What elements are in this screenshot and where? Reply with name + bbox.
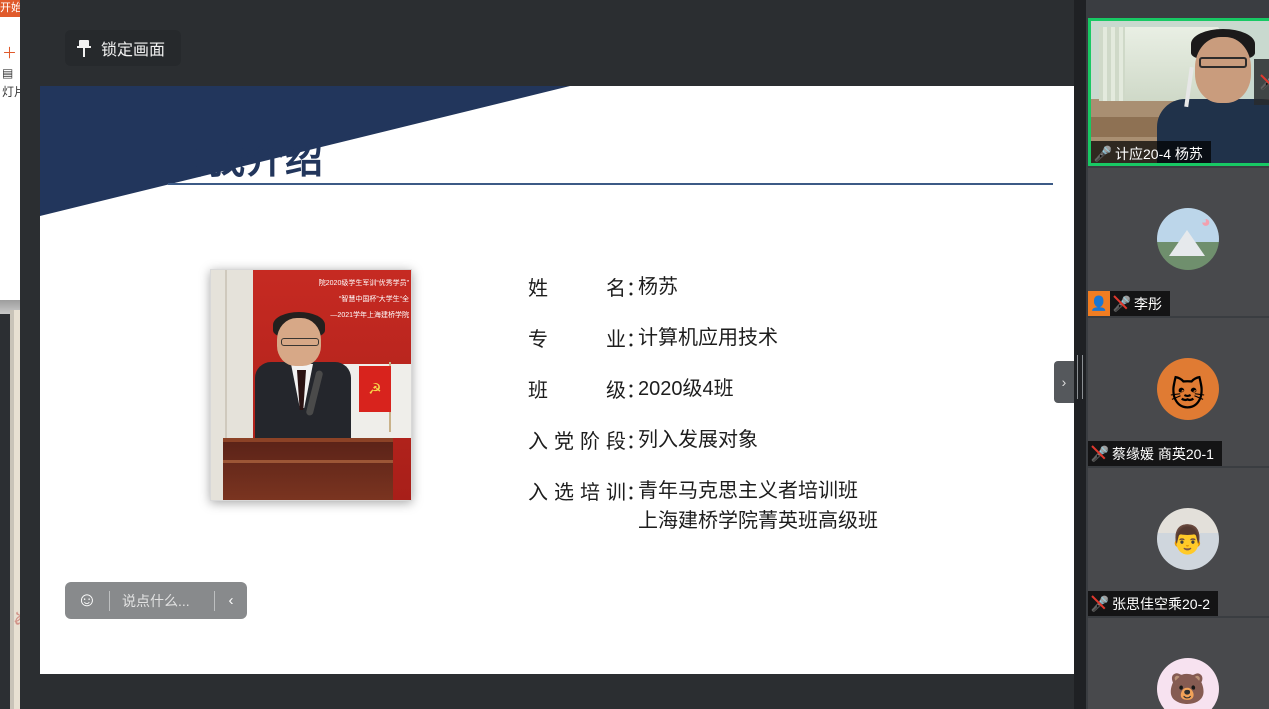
participant-tile[interactable]: 👤 🎤 李彤 [1088, 168, 1269, 316]
info-value: 青年马克思主义者培训班 上海建桥学院菁英班高级班 [638, 476, 878, 536]
info-row-party-stage: 入党阶段 ： 列入发展对象 [528, 425, 1048, 455]
info-label: 专业 [528, 323, 626, 353]
mic-muted-icon: 🎤 [1088, 441, 1112, 466]
mic-muted-icon: 🎤 [1110, 291, 1134, 316]
ppt-slide-icon[interactable]: ▤ [2, 66, 13, 80]
info-value: 计算机应用技术 [638, 323, 778, 353]
meeting-window: 锁定画面 自我介绍 院2020级学生军训“优秀学员” “智慧中国杯”大学生“全 … [20, 0, 1269, 709]
participant-tile[interactable]: 👨 🎤 张思佳空乘20-2 [1088, 468, 1269, 616]
info-colon: ： [626, 425, 638, 455]
participant-name-tag: 🎤 蔡缘媛 商英20-1 [1088, 441, 1222, 466]
info-colon: ： [626, 374, 638, 404]
participant-tile[interactable]: 🐱 🎤 蔡缘媛 商英20-1 [1088, 318, 1269, 466]
pin-icon [77, 39, 91, 57]
ppt-new-slide-icon[interactable]: ＋ [2, 45, 17, 62]
info-colon: ： [626, 323, 638, 353]
avatar: 🐻 [1157, 658, 1219, 709]
lock-screen-button[interactable]: 锁定画面 [65, 30, 181, 66]
emoji-icon[interactable]: ☺ [65, 582, 109, 619]
avatar: 🐱 [1157, 358, 1219, 420]
screen-root: 开始 ＋ ▤ 灯片 ❧ 锁定画面 [0, 0, 1269, 709]
mic-muted-icon: 🎤 [1088, 591, 1112, 616]
participant-tile[interactable]: 🐻 🎤 计应20-4 陆海宁 [1088, 618, 1269, 709]
participant-name-tag: 🎤 计应20-4 杨苏 [1088, 141, 1211, 166]
panel-toggle-button[interactable]: › [1054, 361, 1074, 403]
chat-input[interactable]: 说点什么... [110, 582, 214, 619]
participant-name-tag: 👤 🎤 李彤 [1088, 291, 1170, 316]
photo-person-glasses [281, 338, 319, 346]
info-row-major: 专业 ： 计算机应用技术 [528, 323, 1048, 353]
chat-input-bar[interactable]: ☺ 说点什么... ‹ [65, 582, 247, 619]
info-colon: ： [626, 476, 638, 505]
avatar-glyph: 🐻 [1169, 672, 1206, 707]
info-label: 入党阶段 [528, 425, 626, 455]
info-row-training: 入选培训 ： 青年马克思主义者培训班 上海建桥学院菁英班高级班 [528, 476, 1048, 536]
mute-overlay: 🎤 [1254, 59, 1269, 105]
info-label: 班级 [528, 374, 626, 404]
chevron-left-icon[interactable]: ‹ [215, 582, 247, 619]
photo-podium [223, 438, 393, 500]
avatar-glyph: 👨 [1170, 523, 1205, 556]
mic-on-icon: 🎤 [1091, 141, 1115, 166]
participant-tile[interactable]: 🎤 🎤 计应20-4 杨苏 [1088, 18, 1269, 166]
chevron-right-icon: › [1062, 374, 1067, 390]
info-value: 列入发展对象 [638, 425, 758, 455]
participant-name: 李彤 [1134, 294, 1162, 314]
info-colon: ： [626, 272, 638, 302]
avatar [1157, 208, 1219, 270]
participant-name-tag: 🎤 张思佳空乘20-2 [1088, 591, 1218, 616]
panel-resize-handle[interactable] [1074, 0, 1086, 709]
avatar-glyph: 🐱 [1170, 370, 1205, 420]
slide-title: 自我介绍 [168, 129, 324, 184]
slide-title-underline [168, 183, 1053, 185]
host-badge-icon: 👤 [1088, 291, 1110, 316]
info-value: 杨苏 [638, 272, 678, 302]
participant-name: 蔡缘媛 商英20-1 [1112, 444, 1214, 464]
info-value: 2020级4班 [638, 374, 734, 404]
slide-info-list: 姓名 ： 杨苏 专业 ： 计算机应用技术 班级 ： 2020级4班 [528, 272, 1048, 536]
avatar: 👨 [1157, 508, 1219, 570]
info-row-name: 姓名 ： 杨苏 [528, 272, 1048, 302]
info-label: 姓名 [528, 272, 626, 302]
participant-name: 计应20-4 杨苏 [1115, 144, 1203, 164]
speaker-photo: 院2020级学生军训“优秀学员” “智慧中国杯”大学生“全 —2021学年上海建… [210, 269, 412, 501]
info-row-class: 班级 ： 2020级4班 [528, 374, 1048, 404]
participant-name: 张思佳空乘20-2 [1112, 594, 1210, 614]
info-label: 入选培训 [528, 476, 626, 505]
mic-muted-icon: 🎤 [1257, 70, 1269, 95]
lock-screen-label: 锁定画面 [101, 36, 165, 60]
drag-grip-icon [1077, 355, 1083, 399]
participants-panel[interactable]: 🎤 🎤 计应20-4 杨苏 👤 🎤 李彤 🐱 [1086, 0, 1269, 709]
photo-party-flag: ☭ [359, 366, 391, 412]
